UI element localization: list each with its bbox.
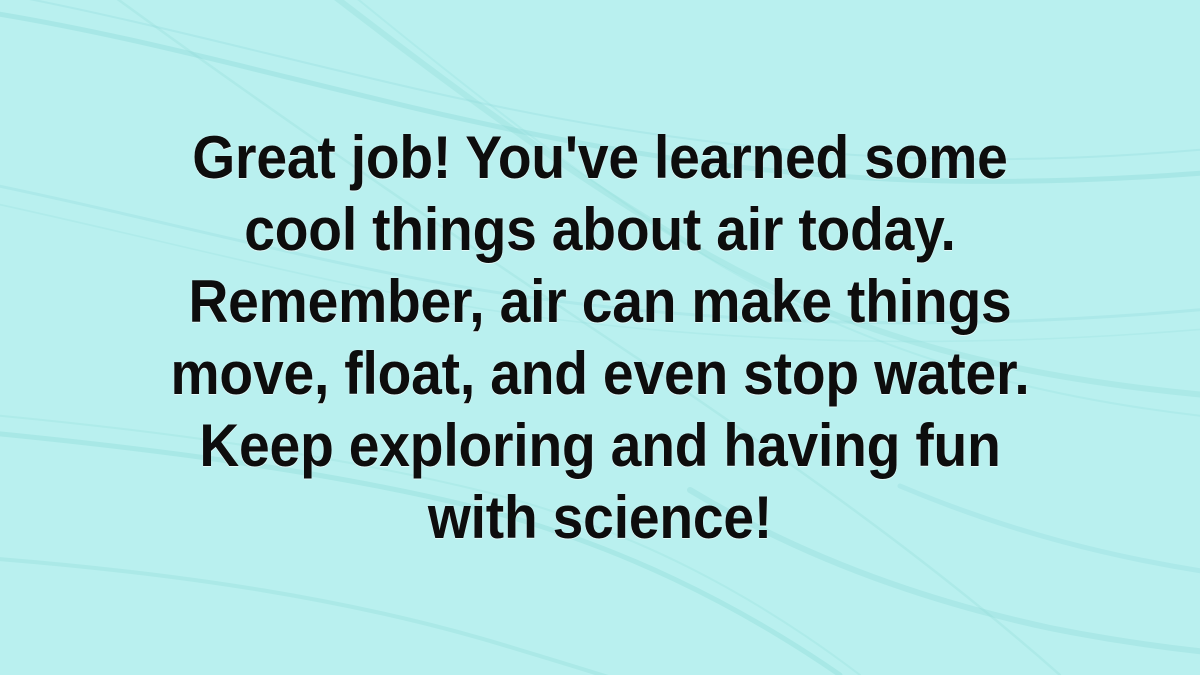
slide-canvas: Great job! You've learned some cool thin… (0, 0, 1200, 675)
message-container: Great job! You've learned some cool thin… (0, 0, 1200, 675)
closing-message-text: Great job! You've learned some cool thin… (158, 122, 1041, 554)
